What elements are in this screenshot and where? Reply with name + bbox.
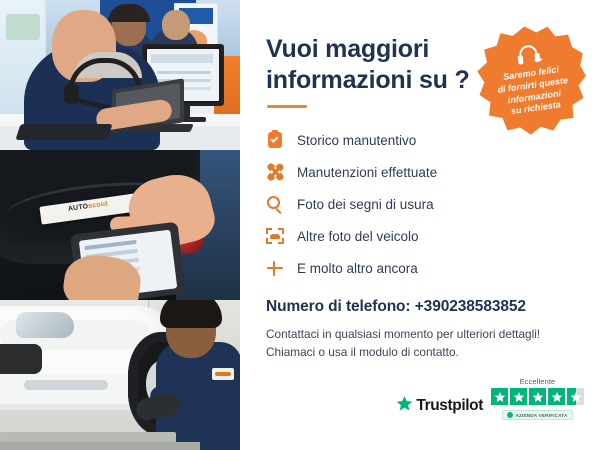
feature-item-molto-altro: E molto altro ancora (266, 254, 578, 282)
feature-item-foto-segni-usura: Foto dei segni di usura (266, 190, 578, 218)
plus-icon (266, 259, 284, 277)
availability-badge: Saremo felici di fornirti queste informa… (471, 19, 593, 141)
feature-label: Storico manutentivo (297, 133, 416, 148)
star-filled-4 (548, 388, 565, 405)
clipboard-check-icon (266, 131, 284, 149)
title-underline-divider (267, 105, 307, 108)
star-filled-2 (510, 388, 527, 405)
magnifier-icon (266, 195, 284, 213)
verified-label: AZIENDA VERIFICATA (515, 413, 567, 418)
contact-subtext: Contattaci in qualsiasi momento per ulte… (266, 325, 578, 362)
uniform-logo-patch (212, 368, 234, 380)
verified-business-badge: AZIENDA VERIFICATA (502, 410, 572, 420)
contact-subtext-line-1: Contattaci in qualsiasi momento per ulte… (266, 325, 578, 343)
star-filled-3 (529, 388, 546, 405)
phone-line: Numero di telefono: +390238583852 (266, 298, 578, 316)
headline-line-2: informazioni su ? (266, 65, 476, 96)
contact-subtext-line-2: Chiamaci o usa il modulo di contatto. (266, 343, 578, 361)
headset-icon (516, 44, 541, 67)
mechanic-wheel-photo (0, 300, 240, 450)
feature-list: Storico manutentivo Manutenzioni effettu… (266, 126, 578, 282)
trustpilot-wordmark: Trustpilot (416, 397, 483, 415)
strip-brand-mark: AUTOscout (68, 200, 109, 213)
mechanic-hair (160, 300, 222, 328)
verified-check-icon (507, 412, 513, 418)
lift-base-decor (0, 442, 200, 450)
page-title: Vuoi maggiori informazioni su ? (266, 34, 476, 95)
headlight-decor (16, 312, 74, 338)
car-focus-frame-icon (266, 227, 284, 245)
feature-label: Manutenzioni effettuate (297, 165, 437, 180)
lower-grille-decor (24, 380, 108, 390)
star-partial-5 (567, 388, 584, 405)
promo-banner: AUTOscout (0, 0, 600, 450)
trustpilot-widget[interactable]: Trustpilot Eccellente (396, 377, 584, 420)
vehicle-inspection-photo: AUTOscout (0, 150, 240, 300)
trustpilot-rating: Eccellente (491, 377, 584, 420)
content-panel: Vuoi maggiori informazioni su ? Saremo f… (240, 0, 600, 450)
photo-column: AUTOscout (0, 0, 240, 450)
rating-caption: Eccellente (520, 377, 556, 386)
trustpilot-logo: Trustpilot (396, 395, 483, 420)
keyboard-decor (15, 124, 112, 140)
phone-number[interactable]: +390238583852 (415, 298, 526, 315)
star-rating (491, 388, 584, 405)
grille-decor (0, 344, 42, 374)
crossed-tools-icon (266, 163, 284, 181)
headset-earcup-decor (64, 84, 79, 104)
headline-line-1: Vuoi maggiori (266, 34, 476, 65)
feature-label: Foto dei segni di usura (297, 197, 434, 212)
feature-item-altre-foto-veicolo: Altre foto del veicolo (266, 222, 578, 250)
feature-item-manutenzioni-effettuate: Manutenzioni effettuate (266, 158, 578, 186)
trustpilot-star-icon (396, 395, 413, 417)
feature-label: E molto altro ancora (297, 261, 418, 276)
star-filled-1 (491, 388, 508, 405)
phone-label: Numero di telefono: (266, 298, 411, 315)
feature-label: Altre foto del veicolo (297, 229, 419, 244)
call-center-agent-photo (0, 0, 240, 150)
